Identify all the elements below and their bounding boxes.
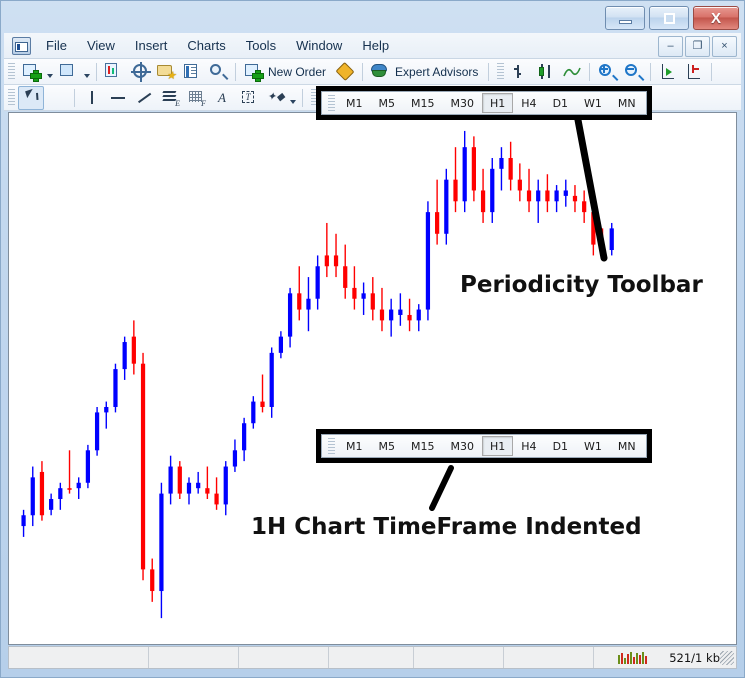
- vertical-line-icon: [83, 89, 101, 106]
- profiles-dropdown-arrow-icon[interactable]: [81, 61, 92, 83]
- candle-body: [21, 515, 25, 526]
- minimize-icon: [619, 20, 632, 24]
- new-order-icon: [244, 63, 262, 80]
- candle-body: [398, 310, 402, 315]
- expert-advisors-icon: [371, 63, 389, 80]
- horizontal-line-button[interactable]: [105, 86, 131, 110]
- traffic-bar: [642, 652, 644, 664]
- candle-body: [58, 488, 62, 499]
- zoom-out-icon: [624, 63, 642, 80]
- candlestick-chart: [9, 113, 736, 644]
- candle-body: [187, 483, 191, 494]
- candle-body: [168, 467, 172, 494]
- periodicity-toolbar-copy: M1M5M15M30H1H4D1W1MN: [321, 434, 647, 458]
- toolbar-separator: [96, 63, 97, 81]
- horizontal-line-icon: [109, 89, 127, 106]
- candle-body: [426, 212, 430, 309]
- traffic-bar: [621, 653, 623, 664]
- timeframe-button-h1[interactable]: H1: [482, 436, 513, 456]
- maximize-button[interactable]: [649, 6, 689, 30]
- maximize-icon: [664, 13, 675, 24]
- mdi-minimize-button[interactable]: –: [658, 36, 683, 57]
- candle-body: [527, 190, 531, 201]
- text-label-icon: T: [239, 89, 257, 106]
- candle-body: [352, 288, 356, 299]
- candle-body: [242, 423, 246, 450]
- traffic-bar: [639, 655, 641, 664]
- timeframe-button-m15[interactable]: M15: [403, 436, 443, 456]
- candle-body: [288, 293, 292, 336]
- toolbar-separator: [488, 63, 489, 81]
- candle-body: [95, 412, 99, 450]
- traffic-bar: [645, 656, 647, 664]
- candle-body: [113, 369, 117, 407]
- periodicity-toolbar-copy-highlight: M1M5M15M30H1H4D1W1MN: [316, 429, 652, 463]
- market-watch-button[interactable]: [101, 60, 127, 84]
- candle-body: [123, 342, 127, 369]
- toolbar-grip[interactable]: [497, 63, 504, 80]
- candle-body: [371, 293, 375, 309]
- traffic-bar: [630, 652, 632, 664]
- trendline-button[interactable]: [131, 86, 157, 110]
- candle-body: [316, 266, 320, 298]
- new-chart-button[interactable]: [18, 60, 44, 84]
- resize-grip-icon[interactable]: [720, 651, 734, 665]
- chart-area[interactable]: [8, 112, 737, 645]
- candle-body: [279, 337, 283, 353]
- candle-body: [86, 450, 90, 482]
- traffic-bar: [633, 657, 635, 664]
- menu-item-file[interactable]: File: [37, 35, 76, 56]
- candle-body: [536, 190, 540, 201]
- standard-toolbar: ★ New Order Expert Advisors: [4, 59, 741, 85]
- toolbar-separator: [589, 63, 590, 81]
- candle-body: [554, 190, 558, 201]
- candle-body: [205, 488, 209, 493]
- timeframe-button-m30[interactable]: M30: [443, 93, 483, 113]
- timeframe-button-m15[interactable]: M15: [403, 93, 443, 113]
- mdi-restore-button[interactable]: ❐: [685, 36, 710, 57]
- toolbar-separator: [711, 63, 712, 81]
- status-cell-5: [414, 647, 504, 668]
- candle-body: [564, 190, 568, 195]
- candle-body: [224, 467, 228, 505]
- zoom-out-button[interactable]: [620, 60, 646, 84]
- toolbar-separator: [235, 63, 236, 81]
- candle-body: [472, 147, 476, 190]
- crosshair-icon: [48, 89, 66, 106]
- candle-body: [463, 147, 467, 201]
- fibonacci-retracement-button[interactable]: F: [183, 86, 209, 110]
- candlestick-chart-button[interactable]: [533, 60, 559, 84]
- trendline-icon: [135, 89, 153, 106]
- candle-body: [77, 483, 81, 488]
- candle-body: [435, 212, 439, 234]
- network-traffic-icon: [618, 652, 647, 664]
- menu-item-tools[interactable]: Tools: [237, 35, 285, 56]
- candle-body: [67, 488, 71, 490]
- profiles-icon: [59, 63, 77, 80]
- text-button[interactable]: A: [209, 86, 235, 110]
- text-icon: A: [213, 89, 231, 106]
- candle-body: [31, 477, 35, 515]
- timeframe-button-m1[interactable]: M1: [338, 436, 371, 456]
- metatrader-app-icon: [12, 37, 31, 55]
- line-chart-icon: [563, 63, 581, 80]
- candlestick-chart-icon: [537, 63, 555, 80]
- traffic-bar: [618, 655, 620, 664]
- periodicity-toolbar-top-highlight: M1M5M15M30H1H4D1W1MN: [316, 86, 652, 120]
- profiles-button[interactable]: [55, 60, 81, 84]
- candle-body: [453, 180, 457, 202]
- status-cell-4: [329, 647, 414, 668]
- timeframe-button-h1[interactable]: H1: [482, 93, 513, 113]
- candle-body: [417, 310, 421, 321]
- metatrader-window: X File View Insert Charts Tools Window H…: [0, 0, 745, 678]
- timeframe-button-m5[interactable]: M5: [371, 436, 404, 456]
- candle-series: [21, 131, 613, 618]
- menu-bar: File View Insert Charts Tools Window Hel…: [4, 33, 741, 59]
- crosshair-button[interactable]: [44, 86, 70, 110]
- candle-body: [104, 407, 108, 412]
- candle-body: [40, 472, 44, 515]
- shapes-icon: ✦◆: [265, 89, 283, 106]
- candle-body: [325, 255, 329, 266]
- candle-body: [297, 293, 301, 309]
- timeframe-button-m1[interactable]: M1: [338, 93, 371, 113]
- candle-body: [306, 299, 310, 310]
- alert-icon: [336, 63, 354, 80]
- menu-item-view[interactable]: View: [78, 35, 124, 56]
- candle-body: [196, 483, 200, 488]
- candle-body: [582, 201, 586, 212]
- zoom-in-button[interactable]: [594, 60, 620, 84]
- candle-body: [343, 266, 347, 288]
- text-label-button[interactable]: T: [235, 86, 261, 110]
- candle-body: [49, 499, 53, 510]
- candle-body: [600, 245, 604, 250]
- chart-shift-icon: [685, 63, 703, 80]
- timeframe-button-h4[interactable]: H4: [513, 436, 544, 456]
- toolbar-separator: [74, 89, 75, 107]
- toolbar-grip[interactable]: [328, 438, 335, 455]
- candle-body: [545, 190, 549, 201]
- zoom-in-icon: [598, 63, 616, 80]
- new-order-label: New Order: [266, 65, 332, 79]
- status-cell-2: [149, 647, 239, 668]
- candle-body: [159, 494, 163, 591]
- annotation-periodicity-toolbar: Periodicity Toolbar: [460, 272, 703, 298]
- toolbar-separator: [302, 89, 303, 107]
- status-cell-1: [9, 647, 149, 668]
- fibonacci-retracement-icon: F: [187, 89, 205, 106]
- candle-body: [260, 402, 264, 407]
- vertical-line-button[interactable]: [79, 86, 105, 110]
- terminal-icon: [183, 63, 201, 80]
- candle-body: [178, 467, 182, 494]
- data-window-button[interactable]: [127, 60, 153, 84]
- equidistant-channel-button[interactable]: E: [157, 86, 183, 110]
- close-button[interactable]: X: [693, 6, 739, 30]
- minimize-button[interactable]: [605, 6, 645, 30]
- candle-body: [380, 310, 384, 321]
- mdi-close-button[interactable]: ×: [712, 36, 737, 57]
- candle-body: [573, 196, 577, 201]
- candle-body: [499, 158, 503, 169]
- status-bar: 521/1 kb: [8, 646, 737, 669]
- candle-body: [490, 169, 494, 212]
- navigator-button[interactable]: ★: [153, 60, 179, 84]
- candle-body: [233, 450, 237, 466]
- menu-item-insert[interactable]: Insert: [126, 35, 177, 56]
- candle-body: [334, 255, 338, 266]
- bar-chart-button[interactable]: [507, 60, 533, 84]
- shapes-dropdown-arrow-icon[interactable]: [287, 87, 298, 109]
- timeframe-button-d1[interactable]: D1: [545, 93, 576, 113]
- timeframe-button-d1[interactable]: D1: [545, 436, 576, 456]
- candle-body: [509, 158, 513, 180]
- candle-body: [591, 212, 595, 244]
- market-watch-icon: [105, 63, 123, 80]
- candle-body: [132, 337, 136, 364]
- alert-button[interactable]: [332, 60, 358, 84]
- cursor-button[interactable]: [18, 86, 44, 110]
- new-chart-icon: [22, 63, 40, 80]
- timeframe-button-w1[interactable]: W1: [576, 93, 610, 113]
- menu-item-help[interactable]: Help: [353, 35, 398, 56]
- data-window-icon: [131, 63, 149, 80]
- navigator-icon: ★: [157, 63, 175, 80]
- timeframe-button-m30[interactable]: M30: [443, 436, 483, 456]
- timeframe-button-mn[interactable]: MN: [610, 93, 644, 113]
- cursor-icon: [22, 89, 40, 106]
- bar-chart-icon: [511, 63, 529, 80]
- status-cell-6: [504, 647, 594, 668]
- mdi-window-controls: – ❐ ×: [658, 36, 737, 57]
- candle-body: [518, 180, 522, 191]
- new-order-button[interactable]: New Order: [240, 60, 332, 84]
- candle-body: [389, 310, 393, 321]
- timeframe-button-m5[interactable]: M5: [371, 93, 404, 113]
- periodicity-toolbar-top: M1M5M15M30H1H4D1W1MN: [321, 91, 647, 115]
- candle-body: [407, 315, 411, 320]
- line-chart-button[interactable]: [559, 60, 585, 84]
- timeframe-button-h4[interactable]: H4: [513, 93, 544, 113]
- auto-scroll-button[interactable]: [655, 60, 681, 84]
- toolbar-separator: [362, 63, 363, 81]
- menu-item-window[interactable]: Window: [287, 35, 351, 56]
- new-chart-dropdown-arrow-icon[interactable]: [44, 61, 55, 83]
- timeframe-button-mn[interactable]: MN: [610, 436, 644, 456]
- traffic-bar: [624, 658, 626, 664]
- terminal-button[interactable]: [179, 60, 205, 84]
- toolbar-grip[interactable]: [8, 63, 15, 80]
- annotation-timeframe-indented: 1H Chart TimeFrame Indented: [251, 514, 642, 540]
- candle-body: [141, 364, 145, 570]
- traffic-bar: [636, 653, 638, 664]
- title-bar: X: [0, 0, 745, 32]
- candle-body: [444, 180, 448, 234]
- traffic-bar: [627, 654, 629, 664]
- candle-body: [361, 293, 365, 298]
- candle-body: [150, 569, 154, 591]
- candle-body: [270, 353, 274, 407]
- chart-shift-button[interactable]: [681, 60, 707, 84]
- strategy-tester-icon: [209, 63, 227, 80]
- expert-advisors-label: Expert Advisors: [393, 65, 484, 79]
- expert-advisors-button[interactable]: Expert Advisors: [367, 60, 484, 84]
- close-icon: X: [711, 11, 721, 26]
- status-cell-3: [239, 647, 329, 668]
- window-controls: X: [605, 6, 739, 30]
- menu-item-charts[interactable]: Charts: [178, 35, 234, 56]
- candle-body: [214, 494, 218, 505]
- strategy-tester-button[interactable]: [205, 60, 231, 84]
- toolbar-separator: [650, 63, 651, 81]
- status-data-usage: 521/1 kb: [669, 651, 720, 665]
- toolbar-grip[interactable]: [8, 89, 15, 106]
- status-spacer: [594, 647, 610, 668]
- equidistant-channel-icon: E: [161, 89, 179, 106]
- candle-body: [251, 402, 255, 424]
- candle-body: [610, 228, 614, 250]
- auto-scroll-icon: [659, 63, 677, 80]
- shapes-button[interactable]: ✦◆: [261, 86, 287, 110]
- timeframe-button-w1[interactable]: W1: [576, 436, 610, 456]
- candle-body: [481, 190, 485, 212]
- toolbar-grip[interactable]: [328, 95, 335, 112]
